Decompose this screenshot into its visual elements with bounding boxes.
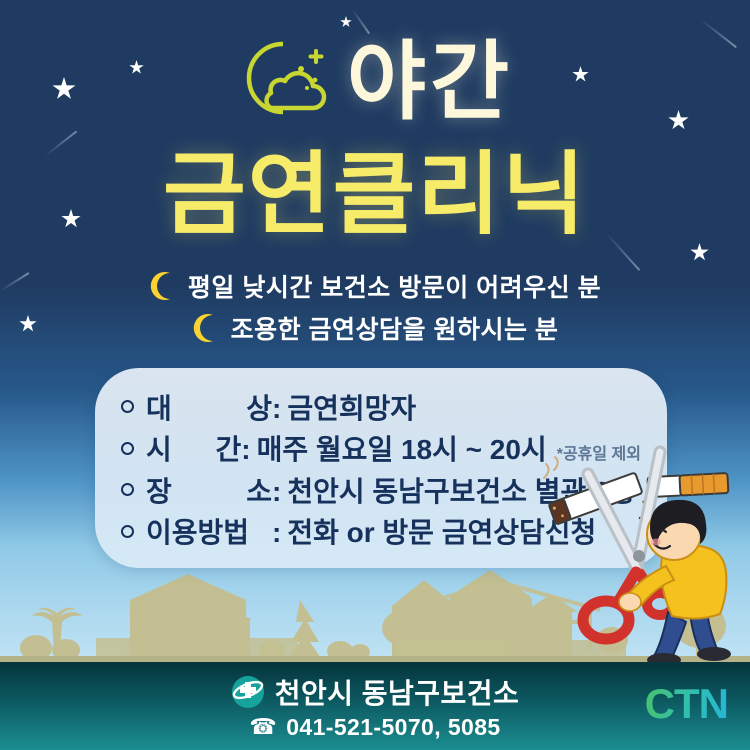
telephone-icon: ☎	[249, 716, 277, 738]
bullet-ring-icon	[121, 442, 134, 455]
list-item-label: 조용한 금연상담을 원하시는 분	[231, 310, 559, 346]
crescent-moon-icon	[192, 314, 218, 342]
bullet-ring-icon	[121, 483, 134, 496]
info-row-label: 이용방법	[146, 511, 272, 551]
info-row-colon: :	[241, 434, 250, 466]
poster-root: 야간 금연클리닉 평일 낮시간 보건소 방문이 어려우신 분 조용한 금연상담을…	[0, 0, 750, 750]
info-row-colon: :	[272, 393, 281, 425]
footer-bar: 천안시 동남구보건소 ☎ 041-521-5070, 5085	[0, 662, 750, 750]
poster-title-row: 야간	[0, 36, 750, 128]
man-cutting-cigarette-illustration	[540, 444, 750, 674]
ctn-brand-logo: CTN	[645, 680, 728, 728]
health-center-logo-icon	[231, 675, 265, 709]
star-icon	[690, 243, 709, 262]
crescent-moon-icon	[149, 272, 175, 300]
list-item: 조용한 금연상담을 원하시는 분	[192, 310, 559, 346]
footer-phone: ☎ 041-521-5070, 5085	[249, 714, 500, 741]
info-row-colon: :	[272, 517, 281, 549]
info-row-target: 대상 : 금연희망자	[121, 387, 641, 427]
man-figure	[619, 500, 731, 667]
bullet-ring-icon	[121, 400, 134, 413]
info-row-label: 대상	[146, 387, 272, 427]
page-title: 야간	[347, 39, 513, 125]
list-item: 평일 낮시간 보건소 방문이 어려우신 분	[149, 268, 601, 304]
page-subtitle: 금연클리닉	[0, 148, 750, 243]
info-row-colon: :	[272, 476, 281, 508]
info-row-value: 금연희망자	[287, 387, 416, 427]
list-item-label: 평일 낮시간 보건소 방문이 어려우신 분	[188, 268, 601, 304]
footer-organization: 천안시 동남구보건소	[231, 672, 520, 712]
star-icon	[340, 16, 352, 28]
footer-organization-label: 천안시 동남구보건소	[275, 672, 520, 712]
bullet-list: 평일 낮시간 보건소 방문이 어려우신 분 조용한 금연상담을 원하시는 분	[0, 268, 750, 346]
info-row-value: 매주 월요일 18시 ~ 20시	[257, 428, 547, 468]
shooting-star-icon	[351, 8, 370, 34]
info-row-label: 장소	[146, 470, 272, 510]
info-row-label: 시간	[146, 428, 241, 468]
bullet-ring-icon	[121, 525, 134, 538]
footer-phone-number: 041-521-5070, 5085	[286, 714, 500, 741]
moon-cloud-icon	[237, 36, 333, 128]
